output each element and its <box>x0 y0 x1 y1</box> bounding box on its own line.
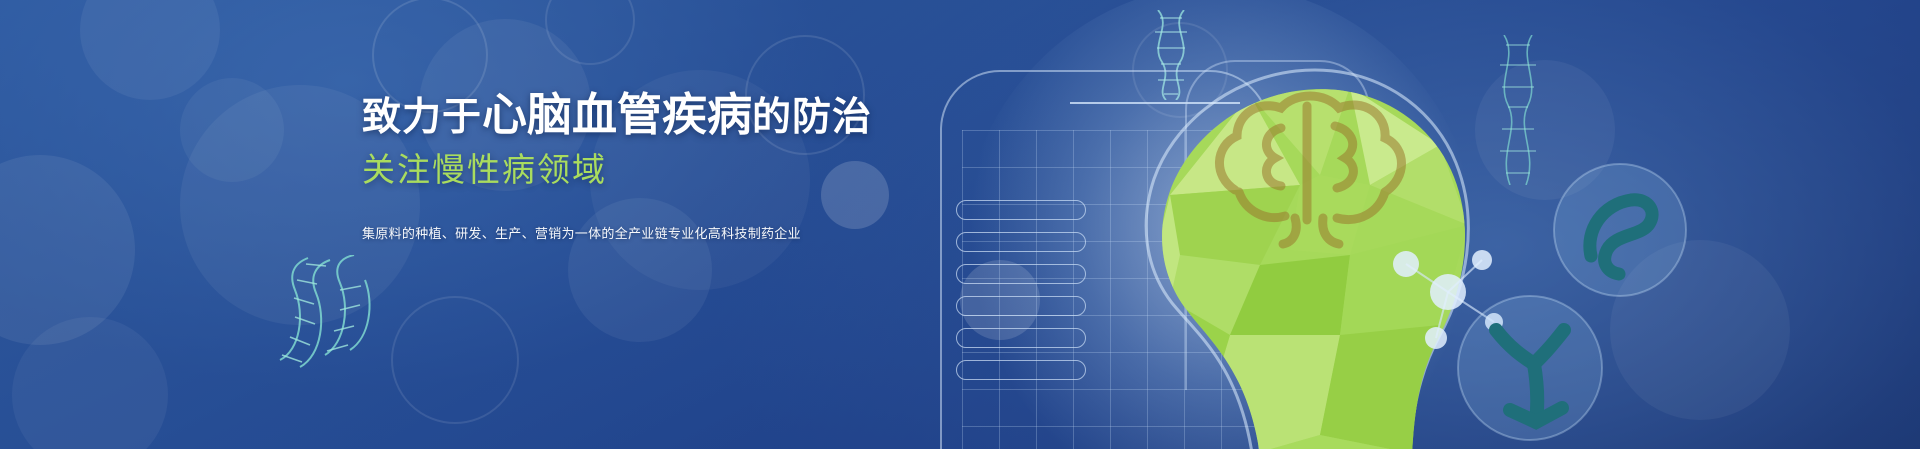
hud-bar <box>1240 284 1358 302</box>
virus-cell-icon <box>1450 290 1610 445</box>
dna-double-helix-top-right-icon <box>1140 10 1210 100</box>
hud-bar-list <box>956 200 1086 392</box>
headline-prefix: 致力于 <box>362 96 482 139</box>
hud-bar <box>956 328 1086 348</box>
hud-bar <box>1240 170 1358 188</box>
headline-line-1: 致力于心脑血管疾病的防治 <box>362 92 872 141</box>
bacteria-cell-icon <box>1545 160 1695 300</box>
hud-bar <box>956 200 1086 220</box>
hud-bar <box>956 360 1086 380</box>
hud-top-connector-line <box>1070 102 1240 104</box>
hud-bar <box>1240 246 1358 264</box>
hud-bar <box>956 296 1086 316</box>
hud-bar <box>956 232 1086 252</box>
hud-bar <box>956 264 1086 284</box>
bokeh-circle <box>960 260 1040 340</box>
hud-frame <box>940 70 1270 449</box>
bokeh-circle <box>545 0 635 65</box>
bokeh-circle <box>391 296 519 424</box>
hud-right-frame <box>1185 60 1370 390</box>
hero-subtitle: 集原料的种植、研发、生产、营销为一体的全产业链专业化高科技制药企业 <box>362 224 872 244</box>
hud-right-panel <box>1185 60 1370 390</box>
hud-right-bar-list <box>1240 170 1358 360</box>
hud-grid <box>962 130 1262 449</box>
hero-banner: 致力于心脑血管疾病的防治 关注慢性病领域 集原料的种植、研发、生产、营销为一体的… <box>0 0 1920 449</box>
hero-copy: 致力于心脑血管疾病的防治 关注慢性病领域 集原料的种植、研发、生产、营销为一体的… <box>362 92 872 244</box>
bokeh-circle <box>12 317 168 449</box>
dna-double-helix-left-icon <box>270 255 400 370</box>
headline-line-2: 关注慢性病领域 <box>362 146 872 194</box>
hud-bar <box>1240 208 1358 226</box>
head-glow <box>960 0 1480 449</box>
bokeh-circle <box>1235 295 1345 405</box>
headline-emphasis: 心脑血管疾病 <box>482 89 752 140</box>
bokeh-circle <box>0 155 135 345</box>
bokeh-circle <box>180 78 284 182</box>
brain-icon <box>1195 80 1425 250</box>
hud-bar <box>1240 322 1358 340</box>
dna-double-helix-right-icon <box>1490 35 1550 185</box>
headline-suffix: 的防治 <box>752 96 872 139</box>
bokeh-circle <box>80 0 220 100</box>
hud-data-panel <box>940 70 1270 449</box>
